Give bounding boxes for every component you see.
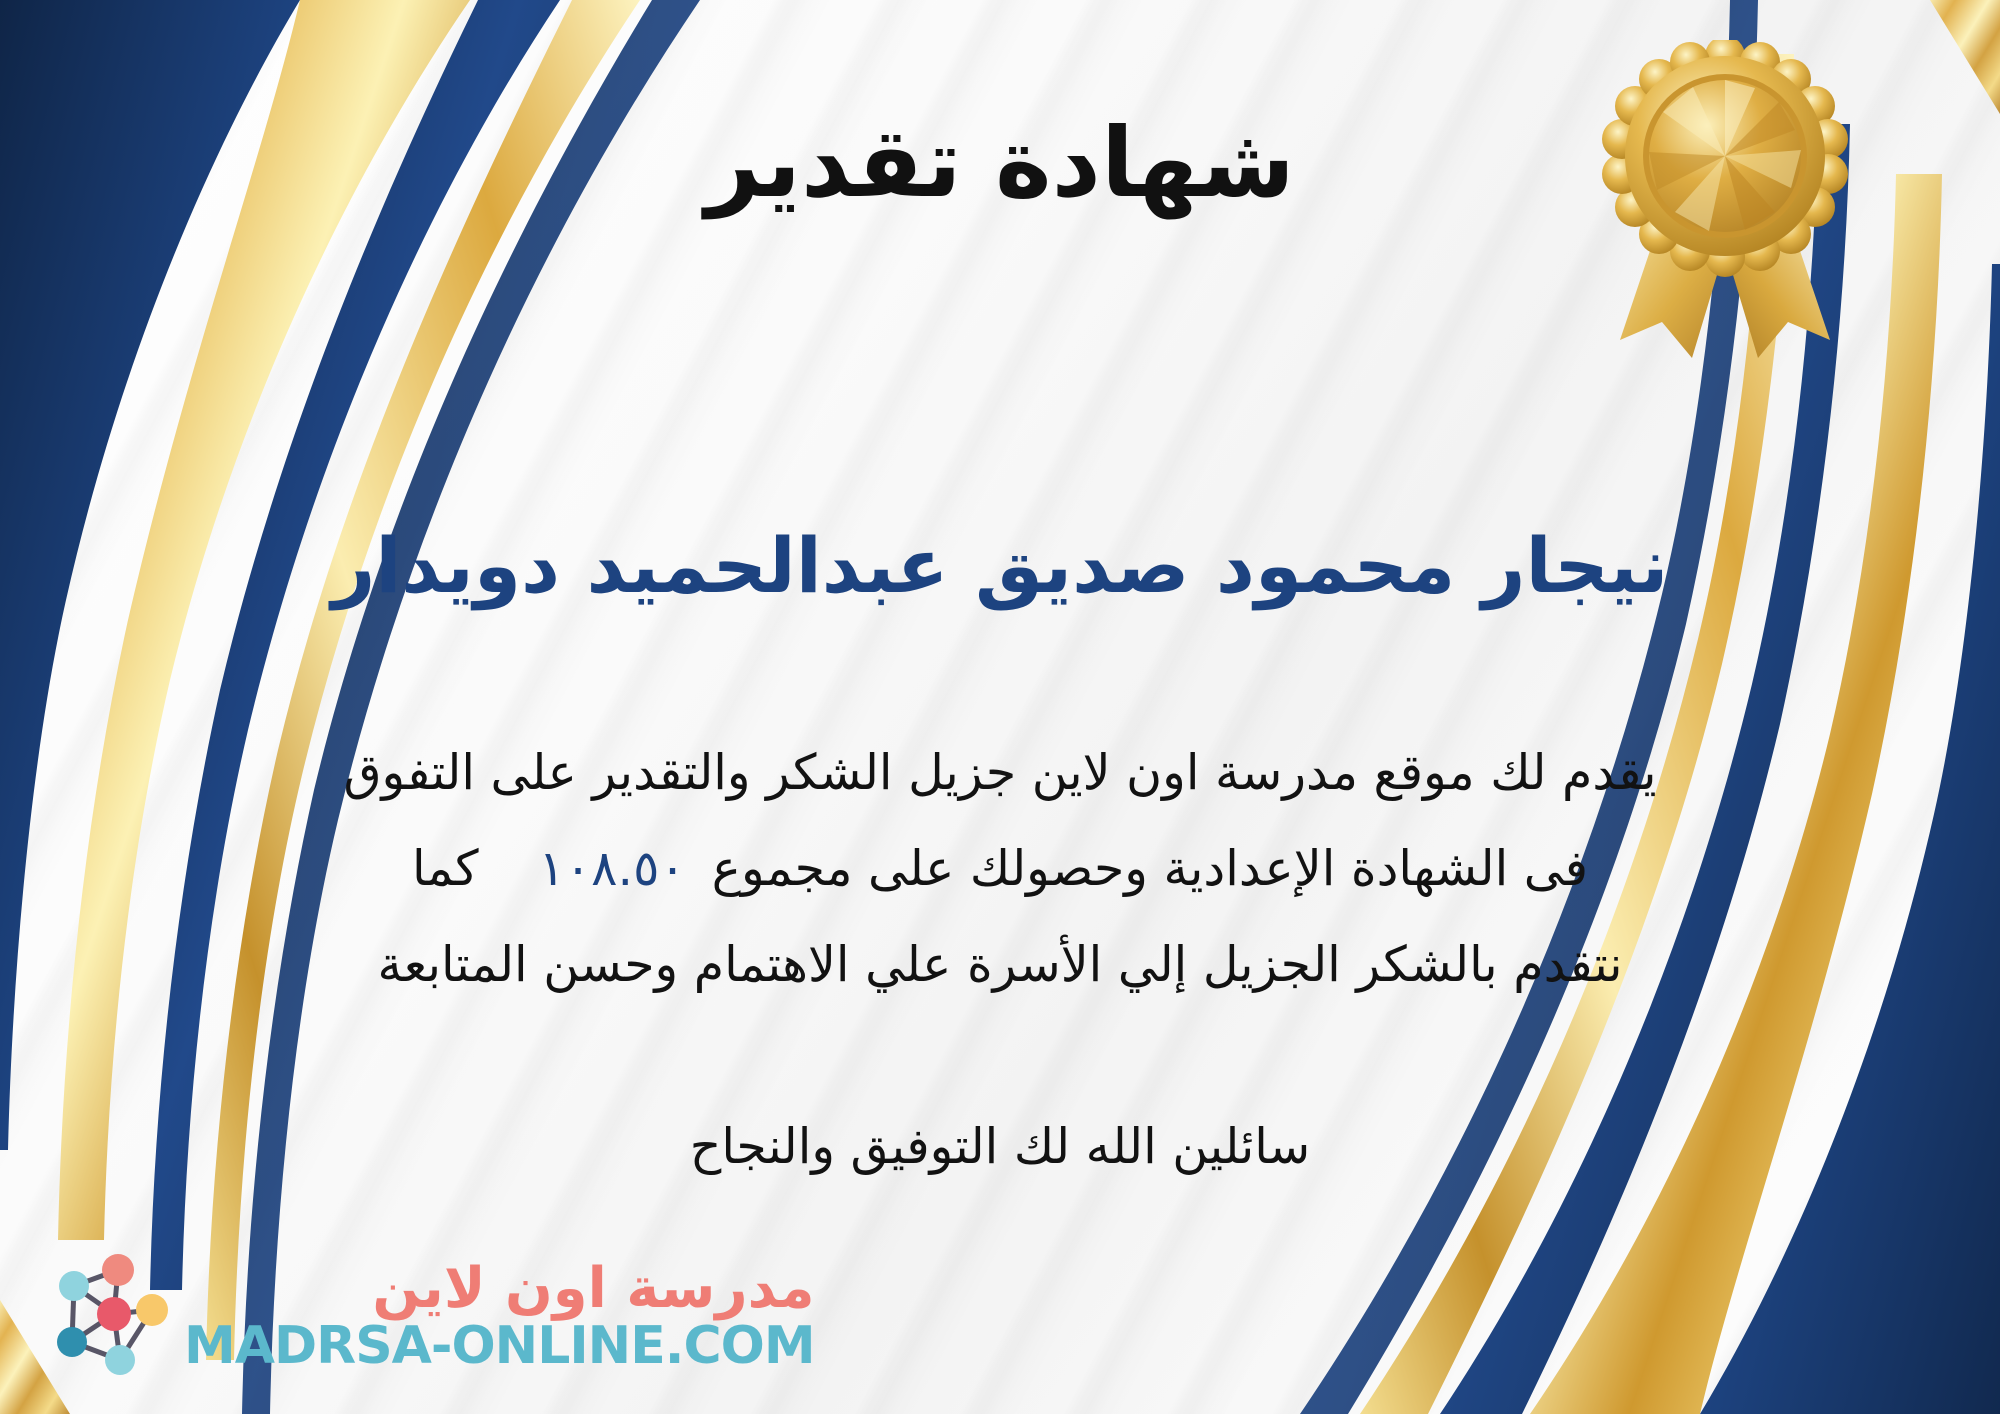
gold-medal-rosette-icon: [1600, 40, 1850, 370]
recipient-name: نيجار محمود صديق عبدالحميد دويدار: [0, 520, 2000, 611]
body-line-2: فى الشهادة الإعدادية وحصولك على مجموع١٠٨…: [55, 821, 1945, 917]
closing-wish: سائلين الله لك التوفيق والنجاح: [0, 1118, 2000, 1175]
certificate-canvas: شهادة تقدير نيجار محمود صديق عبدالحميد د…: [0, 0, 2000, 1414]
logo-text-block: مدرسة اون لاين MADRSA-ONLINE.COM: [184, 1260, 815, 1373]
total-score-value: ١٠٨.٥٠: [513, 840, 712, 897]
body-line-3: نتقدم بالشكر الجزيل إلي الأسرة علي الاهت…: [55, 917, 1945, 1013]
logo-arabic-name: مدرسة اون لاين: [372, 1260, 814, 1319]
certificate-body: يقدم لك موقع مدرسة اون لاين جزيل الشكر و…: [55, 725, 1945, 1013]
body-line-2-left: كما: [412, 840, 479, 897]
body-line-2-right: فى الشهادة الإعدادية وحصولك على مجموع: [712, 840, 1588, 897]
body-line-1: يقدم لك موقع مدرسة اون لاين جزيل الشكر و…: [55, 725, 1945, 821]
network-nodes-icon: [28, 1242, 178, 1392]
site-logo[interactable]: مدرسة اون لاين MADRSA-ONLINE.COM: [28, 1242, 815, 1392]
logo-website-url: MADRSA-ONLINE.COM: [184, 1319, 815, 1374]
